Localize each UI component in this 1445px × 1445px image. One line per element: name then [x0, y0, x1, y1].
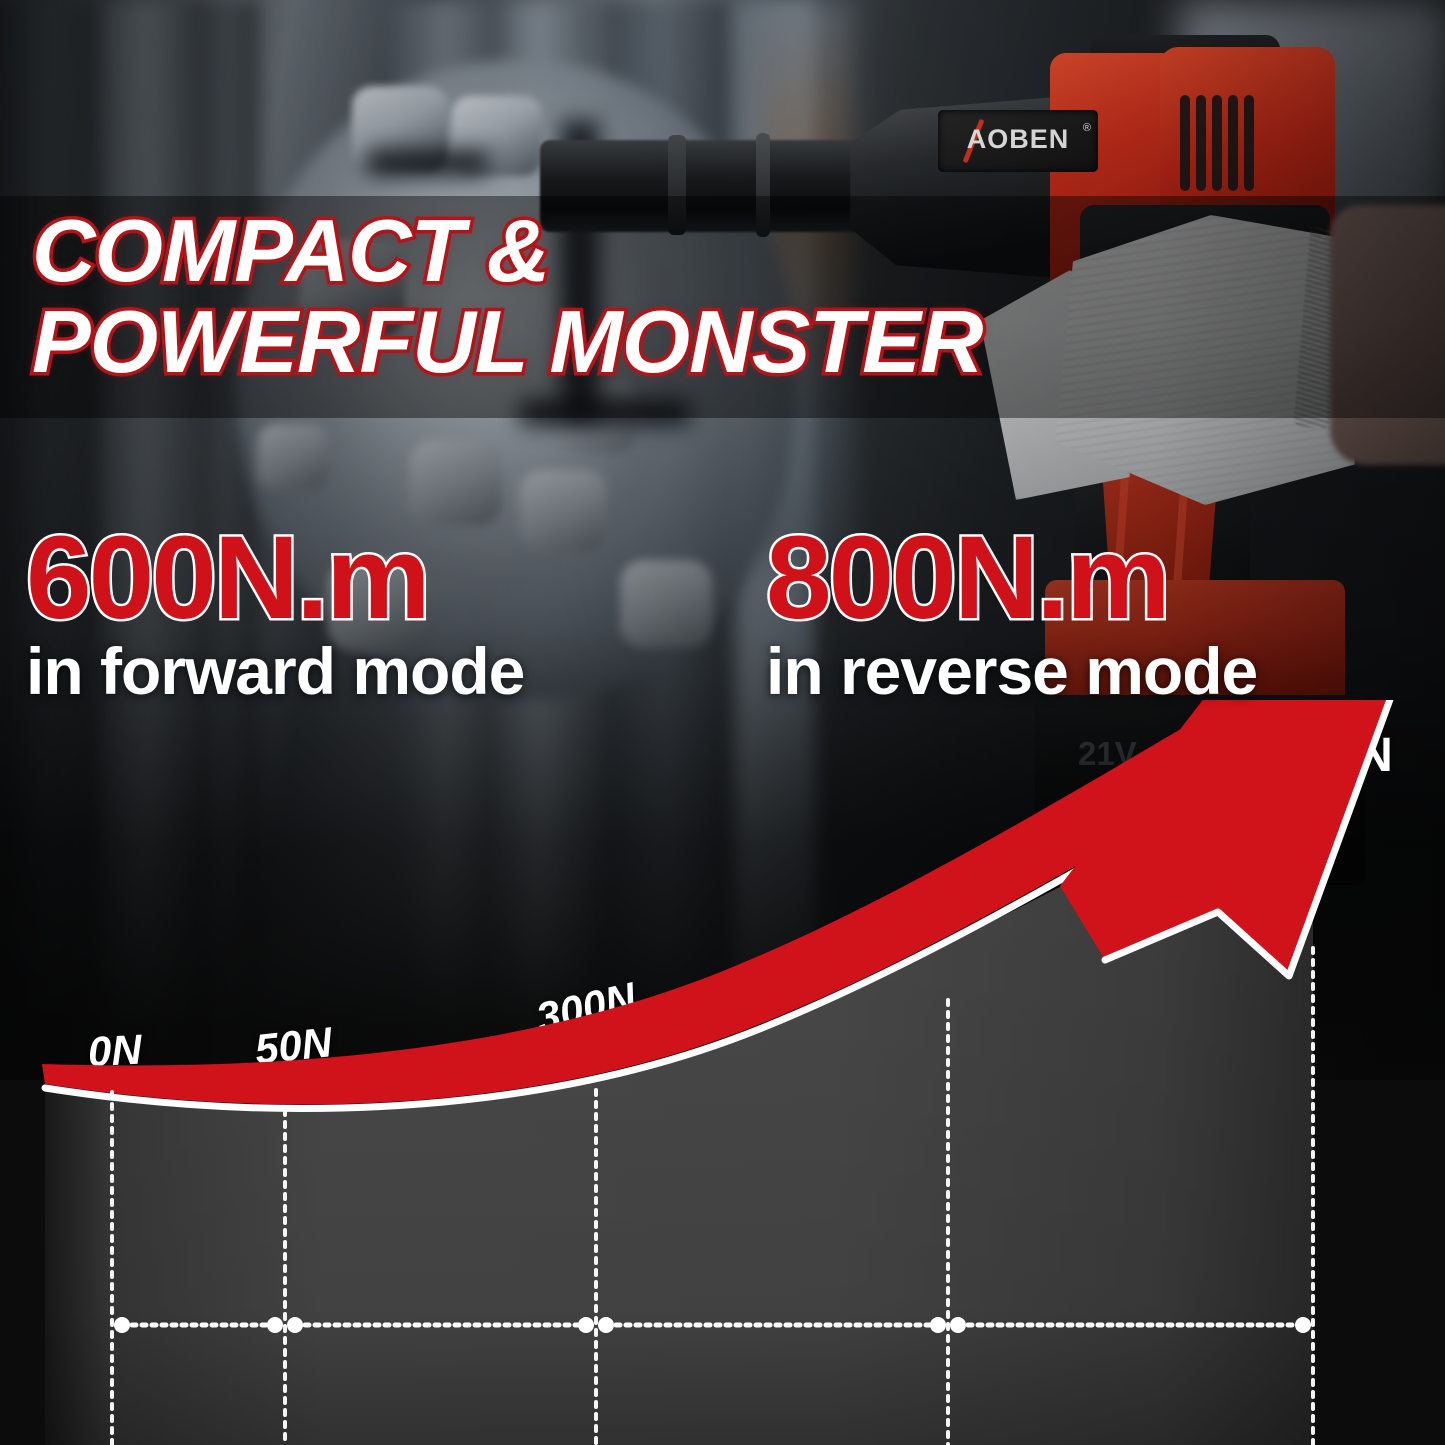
stat-reverse-torque: 800N.m in reverse mode — [766, 522, 1257, 707]
torque-chart-svg — [0, 700, 1445, 1445]
stat-reverse-value: 800N.m — [766, 522, 1257, 635]
stat-reverse-caption: in reverse mode — [766, 637, 1257, 706]
page-title: COMPACT & POWERFUL MONSTER — [32, 206, 982, 387]
stat-forward-caption: in forward mode — [26, 637, 524, 706]
torque-chart — [0, 700, 1445, 1445]
stat-forward-value: 600N.m — [26, 522, 524, 635]
product-infographic: AOBEN ® 21V MAX LITHIUM 4.0Ah BRUSHLESS … — [0, 0, 1445, 1445]
headline-line-2: POWERFUL MONSTER — [32, 297, 982, 388]
headline-line-1: COMPACT & — [32, 206, 982, 297]
stat-forward-torque: 600N.m in forward mode — [26, 522, 524, 707]
